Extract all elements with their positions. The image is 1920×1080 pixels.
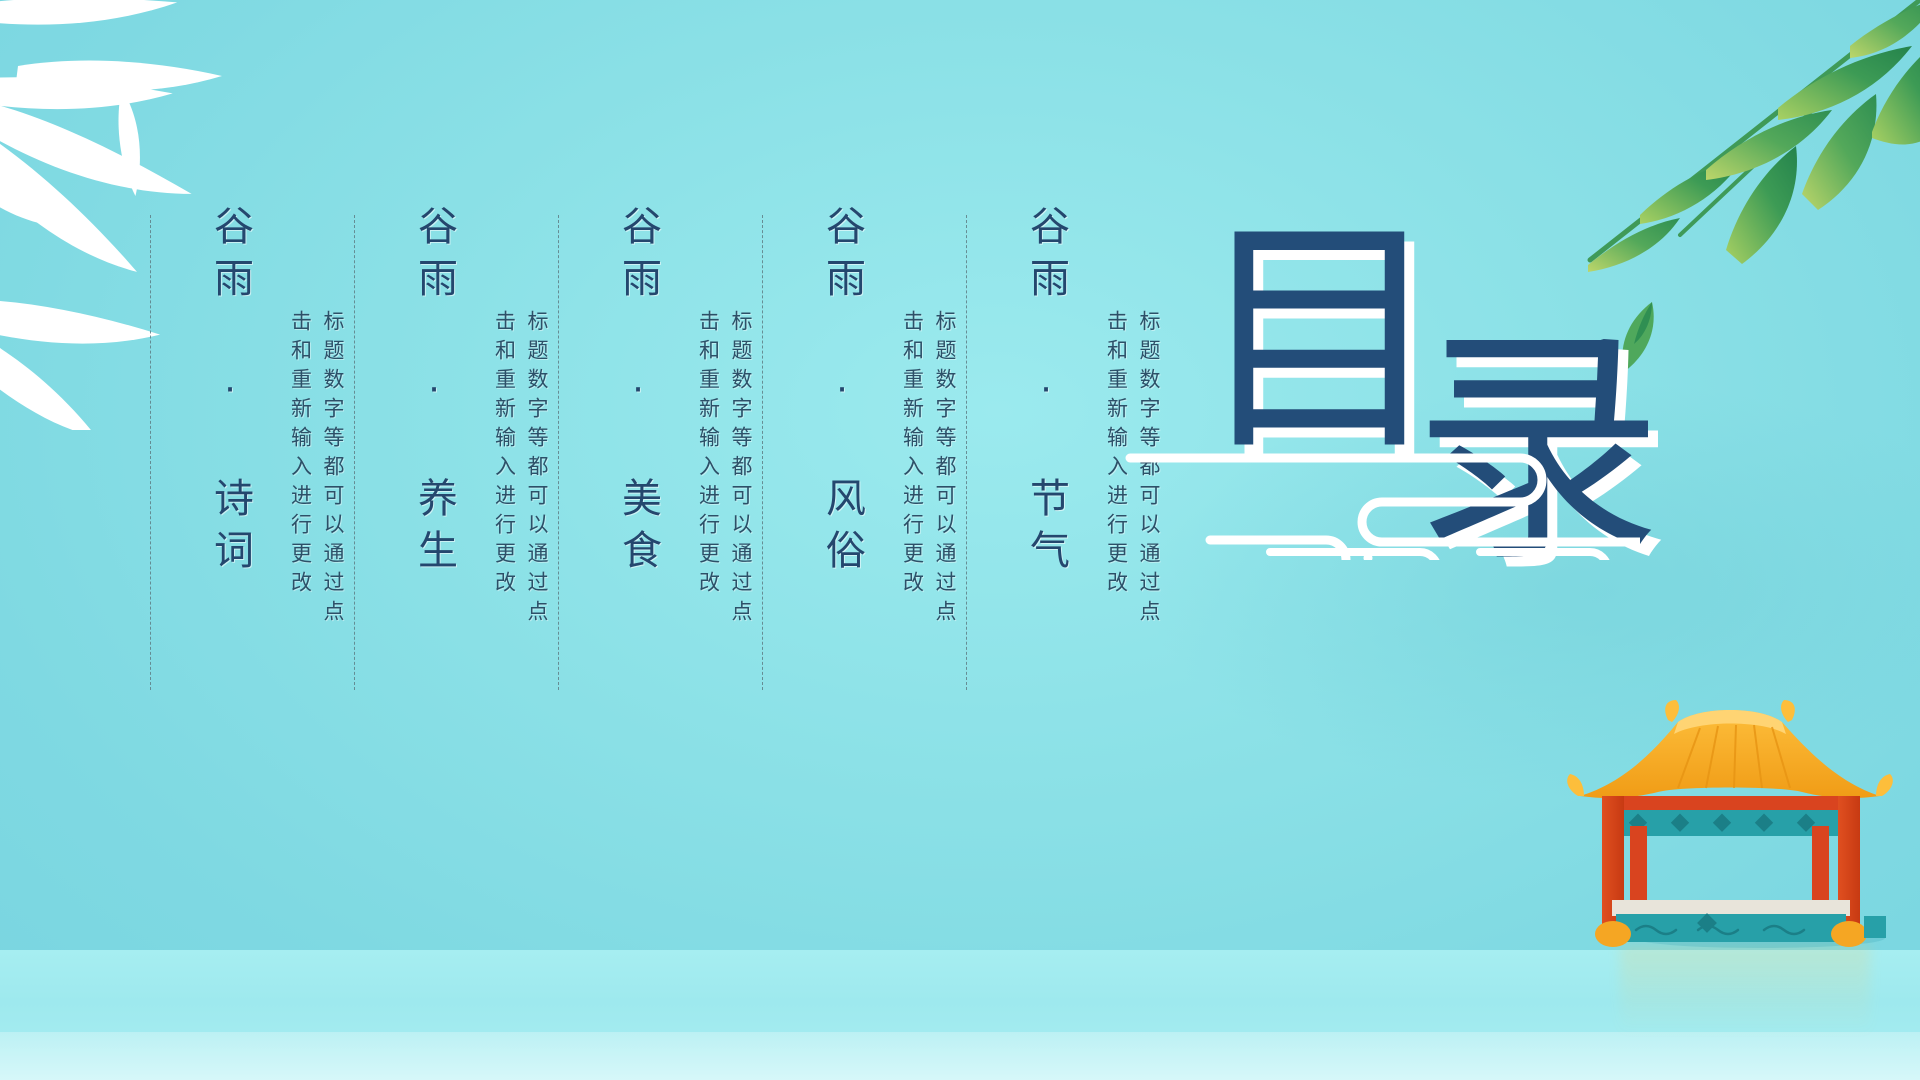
pavilion-reflection bbox=[1620, 945, 1870, 1065]
toc-column-body: 标题数字等都可以通过点击和重新输入进行更改 bbox=[874, 310, 960, 640]
chinese-cloud-motif-icon bbox=[1120, 440, 1640, 560]
column-divider bbox=[558, 215, 559, 690]
page-title-char-mu: 目 bbox=[1195, 215, 1445, 465]
toc-column-body: 标题数字等都可以通过点击和重新输入进行更改 bbox=[262, 310, 348, 640]
toc-column-body: 标题数字等都可以通过点击和重新输入进行更改 bbox=[670, 310, 756, 640]
toc-column-3[interactable]: 谷雨 · 美食 标题数字等都可以通过点击和重新输入进行更改 bbox=[558, 205, 762, 675]
toc-column-title: 谷雨 · 美食 bbox=[618, 205, 658, 675]
chinese-pavilion-icon bbox=[1550, 700, 1920, 960]
column-divider bbox=[762, 215, 763, 690]
toc-column-title: 谷雨 · 养生 bbox=[414, 205, 454, 675]
slide-canvas: 谷雨 · 节气 标题数字等都可以通过点击和重新输入进行更改 谷雨 · 风俗 标题… bbox=[0, 0, 1920, 1080]
toc-column-title: 谷雨 · 诗词 bbox=[210, 205, 250, 675]
toc-column-title: 谷雨 · 节气 bbox=[1026, 205, 1066, 675]
toc-column-2[interactable]: 谷雨 · 风俗 标题数字等都可以通过点击和重新输入进行更改 bbox=[762, 205, 966, 675]
toc-columns: 谷雨 · 节气 标题数字等都可以通过点击和重新输入进行更改 谷雨 · 风俗 标题… bbox=[170, 205, 1170, 675]
column-divider bbox=[966, 215, 967, 690]
toc-column-4[interactable]: 谷雨 · 养生 标题数字等都可以通过点击和重新输入进行更改 bbox=[354, 205, 558, 675]
toc-column-title: 谷雨 · 风俗 bbox=[822, 205, 862, 675]
column-divider bbox=[354, 215, 355, 690]
column-divider bbox=[150, 215, 151, 690]
toc-column-5[interactable]: 谷雨 · 诗词 标题数字等都可以通过点击和重新输入进行更改 bbox=[150, 205, 354, 675]
toc-column-body: 标题数字等都可以通过点击和重新输入进行更改 bbox=[466, 310, 552, 640]
